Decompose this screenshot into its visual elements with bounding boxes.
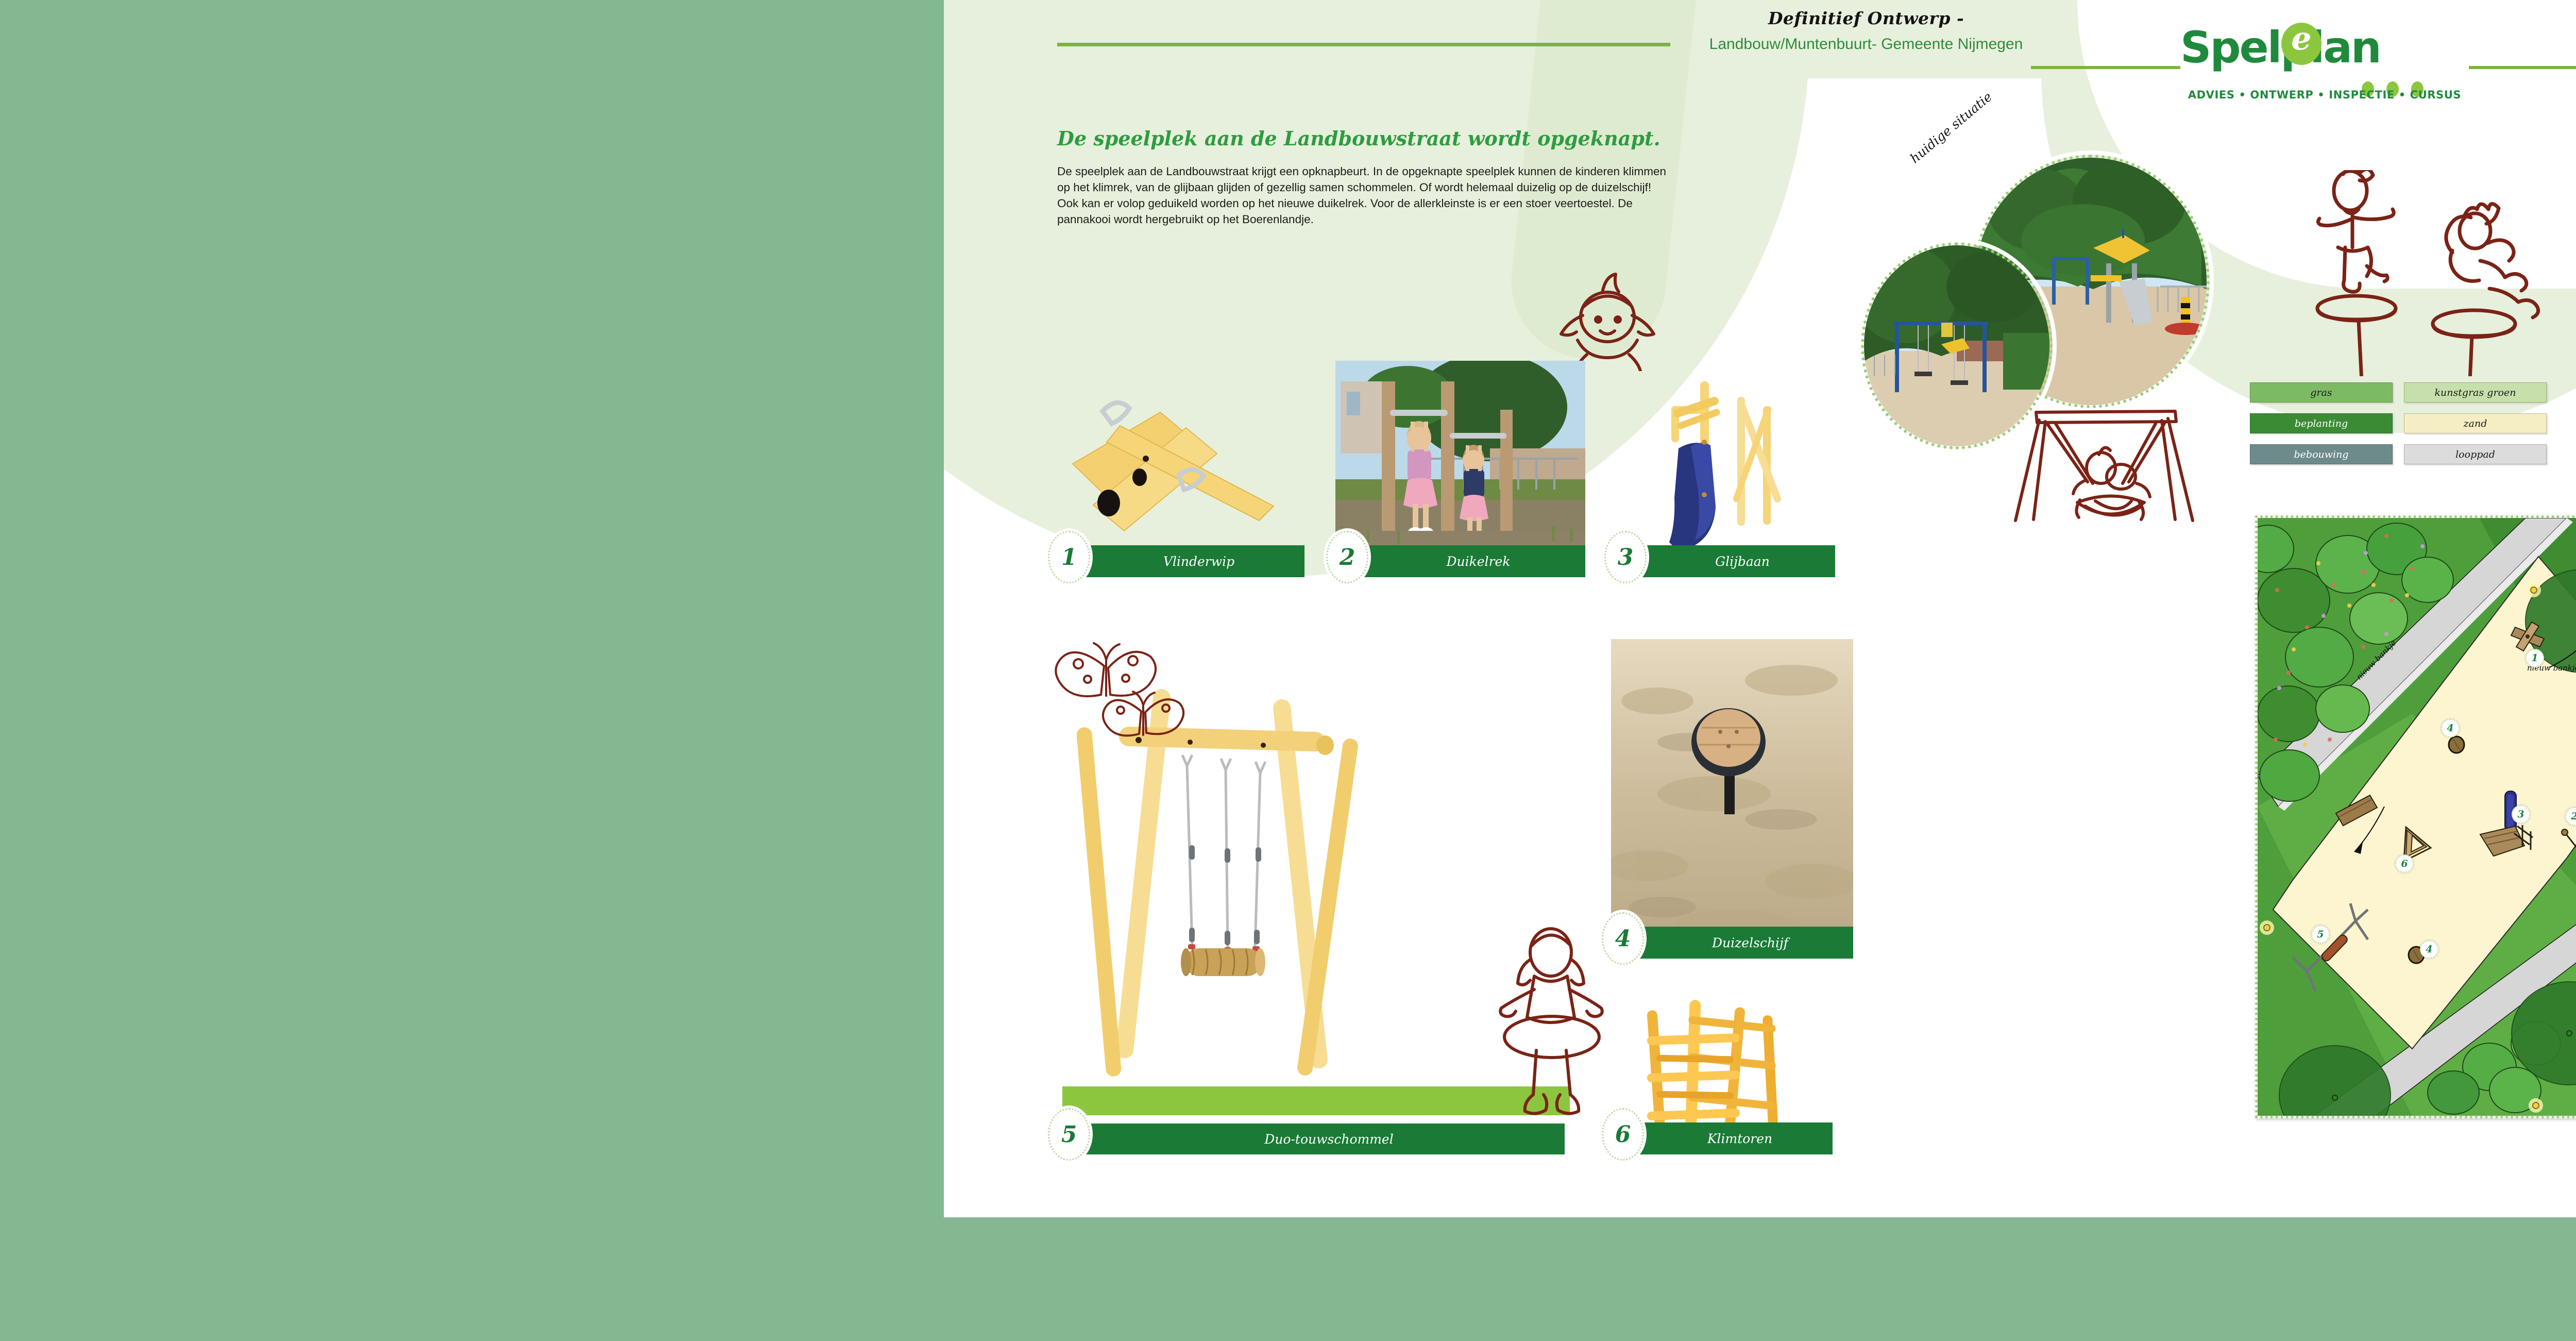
item-5-caption: Duo-touwschommel (1057, 1124, 1565, 1154)
map-marker-4b[interactable]: 4 (2420, 940, 2438, 959)
product-rope-swing-illustration (1057, 639, 1565, 1154)
legend-row: gras kunstgras groen (2250, 382, 2559, 403)
item-5-media (1057, 639, 1565, 1154)
intro-paragraph: De speelplek aan de Landbouwstraat krijg… (1057, 163, 1675, 227)
sketch-girl-peeking-icon (1547, 268, 1665, 371)
intro-block: De speelplek aan de Landbouwstraat wordt… (1057, 127, 1675, 227)
item-card-4[interactable]: Duizelschijf 4 (1611, 639, 1853, 959)
map-marker-6[interactable]: 6 (2395, 854, 2414, 873)
logo-e-badge-icon: e (2281, 23, 2321, 65)
speelplan-logo[interactable]: Spelplan e ADVIES • ONTWERP • INSPECTIE … (2062, 12, 2556, 115)
item-card-1[interactable]: Vlinderwip 1 (1057, 361, 1304, 577)
item-5-label: Duo-touwschommel (1228, 1132, 1393, 1147)
item-2-label: Duikelrek (1411, 554, 1511, 569)
item-4-number-badge: 4 (1602, 912, 1644, 965)
header-title-line2: Landbouw/Muntenbuurt- Gemeente Nijmegen (1681, 36, 2052, 53)
item-1-number-badge: 1 (1048, 531, 1090, 583)
item-6-number-badge: 6 (1602, 1108, 1644, 1161)
current-situation-photo-small (1861, 242, 2053, 449)
header-title-line1: Definitief Ontwerp - (1681, 8, 2052, 28)
item-3-caption: Glijbaan (1614, 545, 1835, 577)
legend-swatches: gras kunstgras groen beplanting zand beb… (2250, 382, 2559, 475)
item-4-caption: Duizelschijf (1611, 927, 1853, 959)
header-title-block: Definitief Ontwerp - Landbouw/Muntenbuur… (1681, 8, 2052, 53)
item-2-caption: Duikelrek (1335, 545, 1585, 577)
item-1-label: Vlinderwip (1127, 554, 1234, 569)
logo-rule-right (2469, 66, 2576, 69)
item-6-caption: Klimtoren (1611, 1122, 1833, 1154)
item-card-2[interactable]: Duikelrek 2 (1335, 361, 1585, 577)
logo-wordmark: Spelplan e (2180, 26, 2469, 82)
product-slide-illustration (1614, 361, 1835, 577)
photo-duikelrek (1335, 361, 1585, 577)
item-card-3[interactable]: Glijbaan 3 (1614, 361, 1835, 577)
item-5-number-badge: 5 (1048, 1108, 1090, 1161)
item-2-number-badge: 2 (1326, 531, 1368, 583)
logo-tagline: ADVIES • ONTWERP • INSPECTIE • CURSUS (2180, 89, 2469, 101)
site-plan-map[interactable]: nieuw bankje nieuw bankje 1 4 3 2 6 5 4 … (2255, 515, 2576, 1118)
item-3-number-badge: 3 (1604, 531, 1647, 583)
map-marker-4a[interactable]: 4 (2441, 719, 2460, 737)
header-rule (1057, 43, 1670, 46)
legend-swatch-beplanting: beplanting (2250, 413, 2393, 433)
item-card-6[interactable]: Klimtoren 6 (1611, 990, 1833, 1154)
photo-existing-swing (1864, 245, 2049, 446)
legend-swatch-zand: zand (2404, 413, 2547, 433)
map-marker-3[interactable]: 3 (2512, 805, 2530, 824)
logo-e-letter: e (2281, 20, 2321, 57)
legend-swatch-looppad: looppad (2404, 444, 2547, 464)
item-1-caption: Vlinderwip (1057, 545, 1304, 577)
logo-text-part2: e (2240, 22, 2267, 73)
legend-swatch-gras: gras (2250, 382, 2393, 403)
poster-page: Definitief Ontwerp - Landbouw/Muntenbuur… (944, 0, 2576, 1217)
photo-duizelschijf (1611, 639, 1853, 959)
legend-row: beplanting zand (2250, 413, 2559, 433)
item-card-5[interactable]: Duo-touwschommel 5 (1057, 639, 1565, 1154)
item-6-label: Klimtoren (1671, 1131, 1772, 1146)
item-2-media (1335, 361, 1585, 577)
logo-rule-left (2031, 66, 2180, 69)
legend-swatch-kunstgras-groen: kunstgras groen (2404, 382, 2547, 403)
poster-header: Definitief Ontwerp - Landbouw/Muntenbuur… (944, 0, 2576, 139)
item-4-label: Duizelschijf (1676, 935, 1788, 950)
map-marker-1[interactable]: 1 (2526, 649, 2544, 667)
item-3-label: Glijbaan (1679, 554, 1770, 569)
map-marker-5[interactable]: 5 (2311, 925, 2330, 944)
legend-swatch-bebouwing: bebouwing (2250, 444, 2393, 464)
item-1-media (1057, 361, 1304, 577)
item-4-media (1611, 639, 1853, 959)
item-3-media (1614, 361, 1835, 577)
page-title: De speelplek aan de Landbouwstraat wordt… (1057, 127, 1675, 150)
logo-text-part1: Sp (2180, 22, 2240, 73)
legend-row: bebouwing looppad (2250, 444, 2559, 464)
product-seesaw-illustration (1057, 361, 1304, 577)
